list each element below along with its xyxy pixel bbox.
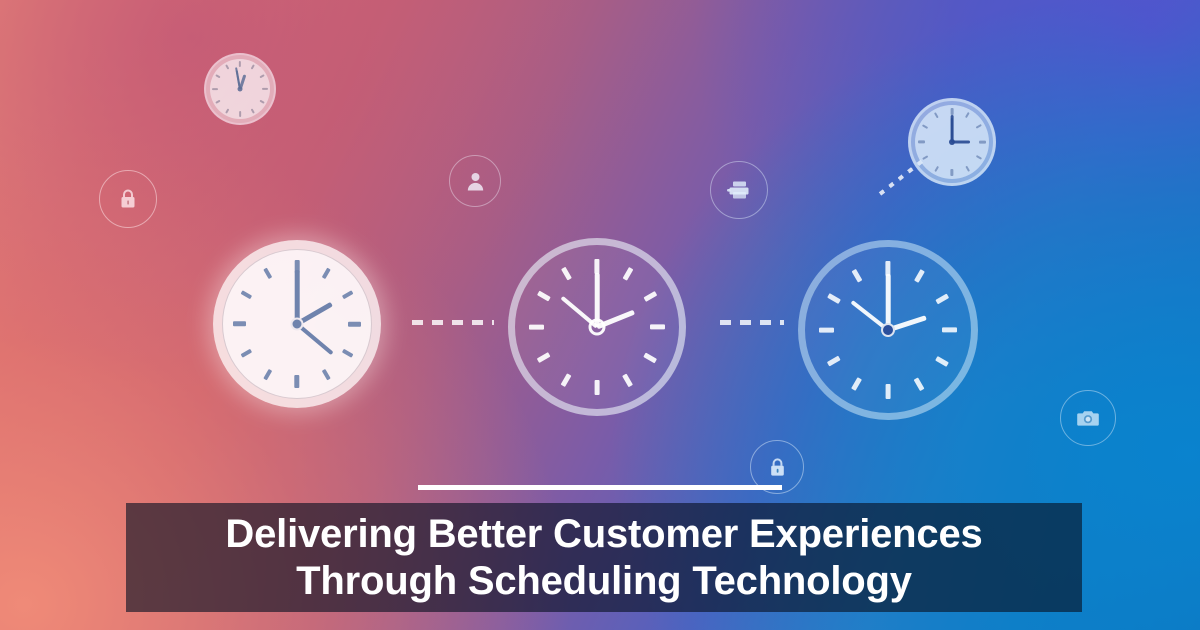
clock-right — [798, 240, 978, 420]
clock-tick — [979, 141, 986, 144]
title-banner: Delivering Better Customer Experiences T… — [126, 503, 1082, 612]
camera-icon — [1060, 390, 1116, 446]
user-icon — [449, 155, 501, 207]
dashed-connector-right — [720, 320, 784, 325]
clock-tick — [594, 380, 599, 395]
clock-hand-min — [886, 274, 891, 330]
clock-tick — [594, 259, 599, 274]
clock-tick — [918, 141, 925, 144]
clock-tick — [529, 324, 544, 329]
clock-tick — [348, 322, 361, 327]
headline-line-1: Delivering Better Customer Experiences — [225, 511, 982, 557]
clock-center-pin — [949, 139, 955, 145]
clock-left — [213, 240, 381, 408]
clock-small-left — [204, 53, 276, 125]
clock-mid — [508, 238, 686, 416]
clock-center-pin — [238, 87, 243, 92]
clock-tick — [212, 88, 218, 90]
clock-small-right — [908, 98, 996, 186]
clock-hand-min — [295, 270, 300, 324]
clock-tick — [233, 322, 246, 327]
clock-tick — [650, 324, 665, 329]
dashed-connector-left — [412, 320, 494, 325]
clock-tick — [295, 375, 300, 388]
clock-center-pin — [291, 318, 304, 331]
hero-banner: Delivering Better Customer Experiences T… — [0, 0, 1200, 630]
title-divider-rule — [418, 485, 782, 490]
device-icon — [710, 161, 768, 219]
clock-center-pin — [589, 319, 606, 336]
headline-line-2: Through Scheduling Technology — [296, 558, 912, 604]
clock-tick — [262, 88, 268, 90]
clock-tick — [942, 327, 957, 332]
clock-tick — [885, 384, 890, 399]
padlock-icon — [99, 170, 157, 228]
clock-tick — [951, 169, 954, 176]
clock-center-pin — [881, 323, 895, 337]
clock-tick — [819, 327, 834, 332]
clock-tick — [239, 111, 241, 117]
clock-tick — [239, 61, 241, 67]
clock-tick — [951, 108, 954, 115]
